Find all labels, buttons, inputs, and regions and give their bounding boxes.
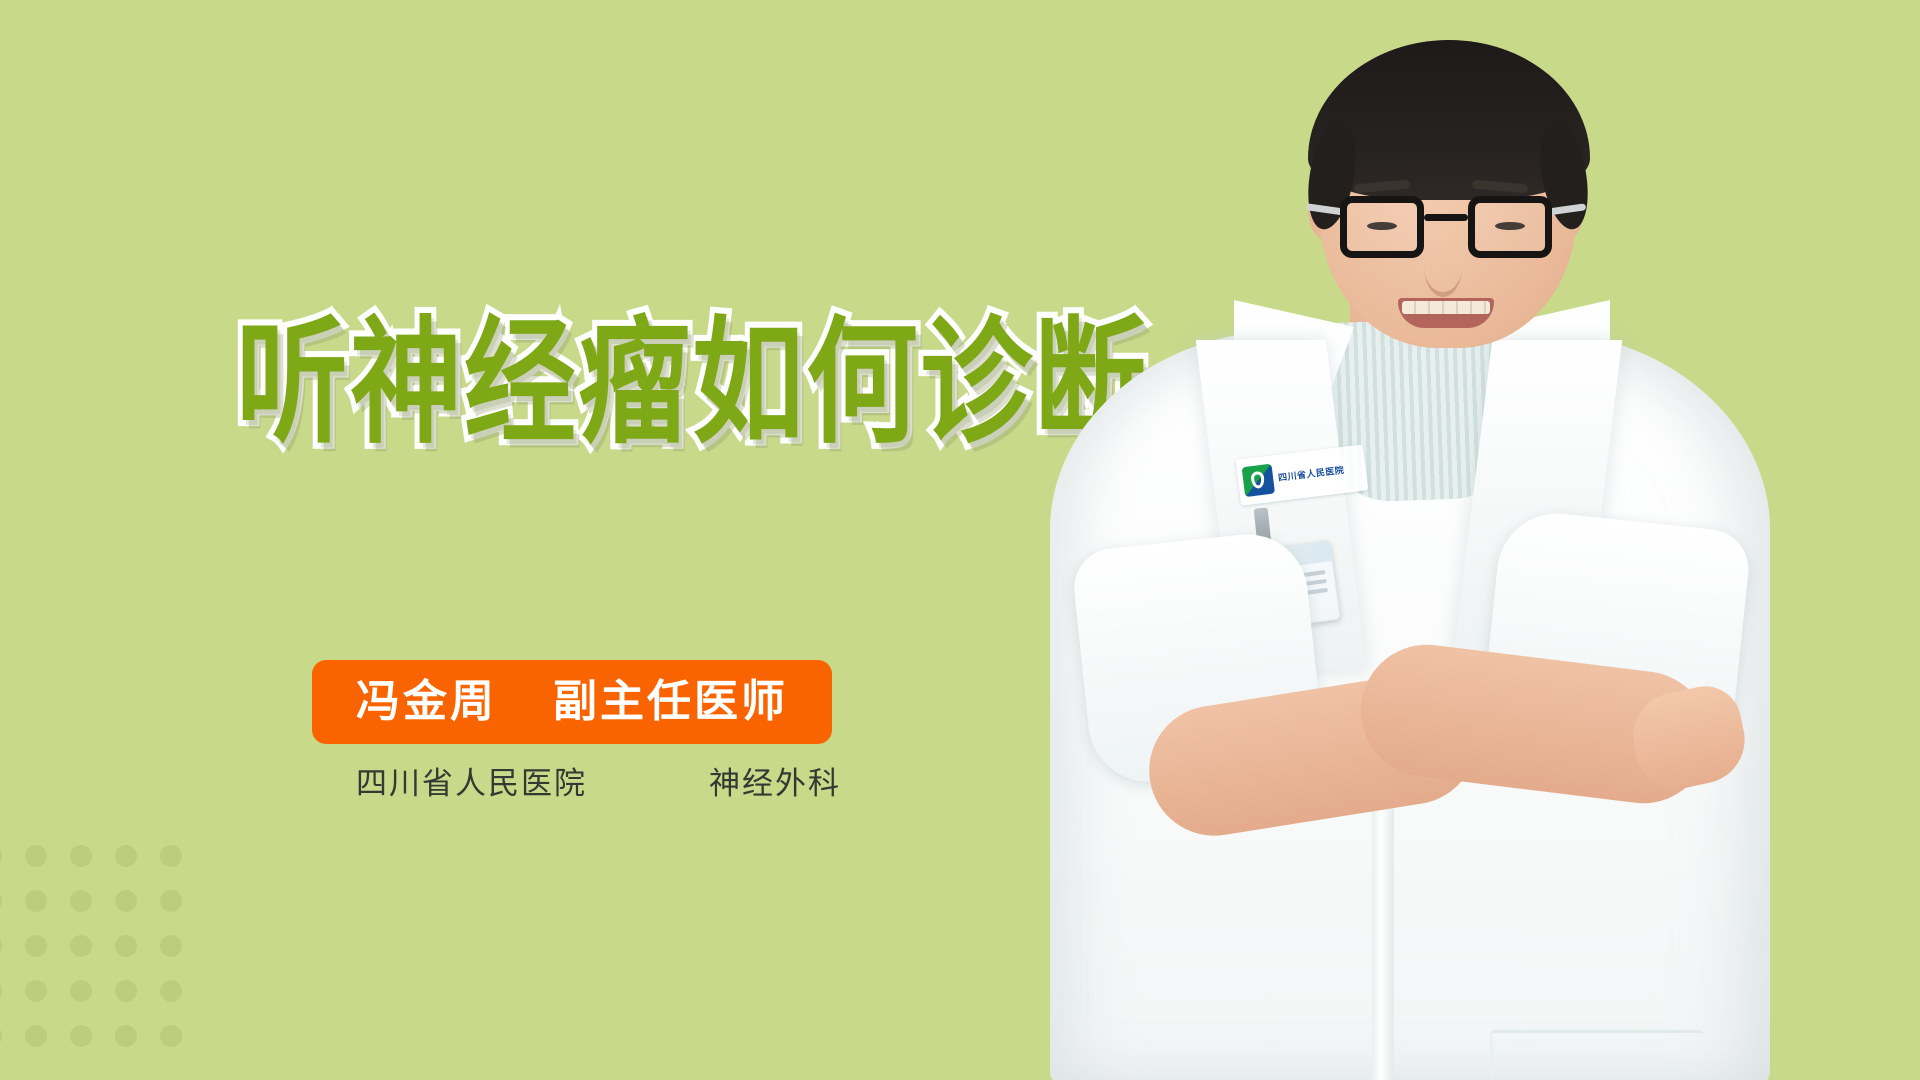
promo-banner: 听神经瘤如何诊断 冯金周 副主任医师 四川省人民医院 神经外科 (0, 0, 1920, 1080)
decorative-dot (25, 935, 47, 957)
hospital-logo-mark (1242, 464, 1275, 497)
nose (1424, 236, 1462, 297)
doctor-name: 冯金周 (356, 680, 497, 724)
decorative-dot (0, 980, 2, 1002)
decorative-dot (115, 845, 137, 867)
decorative-dot (0, 890, 2, 912)
doctor-portrait: 四川省人民医院 (1020, 0, 1920, 1080)
decorative-dot (25, 890, 47, 912)
decorative-dot (25, 980, 47, 1002)
decorative-dot (115, 935, 137, 957)
teeth (1402, 301, 1490, 314)
decorative-dot (70, 980, 92, 1002)
decorative-dot (70, 935, 92, 957)
decorative-dot (160, 1025, 182, 1047)
mouth (1398, 298, 1494, 328)
decorative-dot (115, 980, 137, 1002)
decorative-dot (25, 845, 47, 867)
decorative-dot (160, 845, 182, 867)
affiliation-row: 四川省人民医院 神经外科 (356, 758, 841, 803)
decorative-dot (70, 890, 92, 912)
department-name: 神经外科 (709, 758, 841, 803)
decorative-dot (160, 935, 182, 957)
glasses-lens-left (1340, 196, 1424, 258)
decorative-dot (160, 890, 182, 912)
decorative-dot (115, 890, 137, 912)
decorative-dot (25, 1025, 47, 1047)
hospital-logo-text: 四川省人民医院 (1278, 465, 1345, 483)
decorative-dot (0, 935, 2, 957)
decorative-dot (70, 1025, 92, 1047)
doctor-name-badge: 冯金周 副主任医师 (312, 660, 832, 744)
decorative-dot (0, 845, 2, 867)
hospital-name: 四川省人民医院 (356, 758, 587, 803)
doctor-title: 副主任医师 (553, 680, 788, 724)
glasses-bridge (1424, 214, 1468, 221)
decorative-dot-grid-left (0, 845, 240, 1080)
decorative-dot (0, 1025, 2, 1047)
decorative-dot (160, 980, 182, 1002)
decorative-dot (70, 845, 92, 867)
decorative-dot (115, 1025, 137, 1047)
coat-pocket (1490, 1030, 1703, 1080)
glasses-lens-right (1468, 196, 1552, 258)
